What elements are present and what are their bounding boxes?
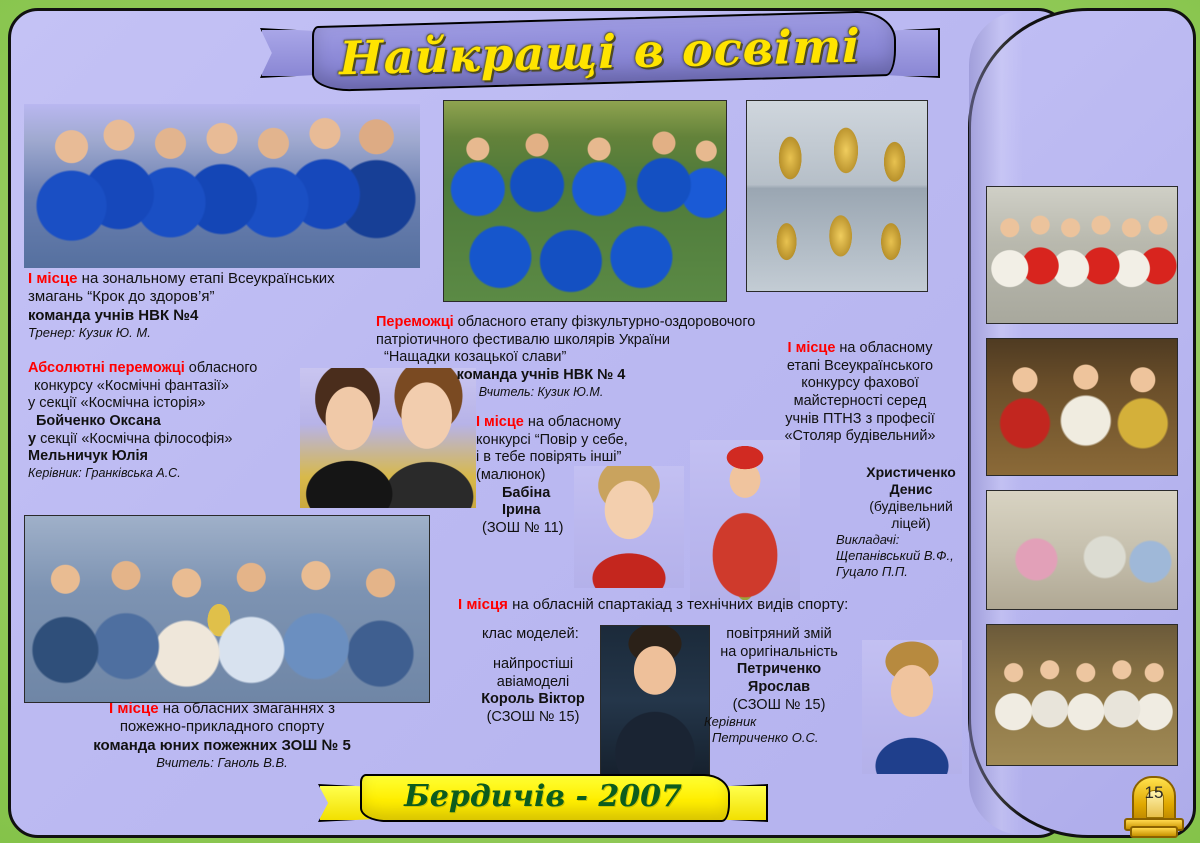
- photo-boy-worker-red-cap: [690, 440, 800, 600]
- text-block-krok-do-zdorovya: I місце на зональному етапі Всеукраїнськ…: [28, 270, 428, 341]
- text-block-petrychenko: повітряний змій на оригінальність Петрич…: [704, 626, 854, 746]
- stolyar-line4: майстерності серед: [756, 393, 964, 411]
- photo-kids-stage: [986, 338, 1178, 476]
- photo-boy-petrychenko: [862, 640, 962, 774]
- nash-teacher: Вчитель: Кузик Ю.М.: [376, 385, 706, 400]
- photo-classroom: [986, 490, 1178, 610]
- kosm-line2: конкурсу «Космічні фантазії»: [28, 378, 328, 396]
- korol-school: (СЗОШ № 15): [458, 709, 608, 727]
- photo-kids-dance: [986, 624, 1178, 766]
- petr-school: (СЗОШ № 15): [704, 697, 854, 715]
- krok-line2: змагань “Крок до здоров’я”: [28, 288, 428, 306]
- photo-team-medals-outdoors: [443, 100, 727, 302]
- povir-line3: і в тебе повірять інші”: [476, 449, 676, 467]
- text-block-korol: найпростіші авіамоделі Король Віктор (СЗ…: [458, 656, 608, 727]
- photo-boys-with-cup: [24, 515, 430, 703]
- korol-line1: найпростіші: [458, 656, 608, 674]
- stolyar-line5: учнів ПТНЗ з професії: [756, 411, 964, 429]
- petr-line2: на оригінальність: [704, 644, 854, 662]
- povir-place: I місце: [476, 414, 524, 430]
- photo-boy-korol: [600, 625, 710, 775]
- khr-teacher1: Щепанівський В.Ф.,: [836, 548, 986, 564]
- petr-line1: повітряний змій: [704, 626, 854, 644]
- nash-line1: Переможці обласного етапу фізкультурно-о…: [376, 314, 846, 332]
- gold-arch-emblem-icon: [1124, 772, 1180, 836]
- krok-team: команда учнів НВК №4: [28, 307, 428, 325]
- petr-name1: Петриченко: [704, 661, 854, 679]
- korol-name: Король Віктор: [458, 691, 608, 709]
- nash-team: команда учнів НВК № 4: [376, 367, 706, 385]
- stolyar-place: I місце: [788, 340, 836, 356]
- footer-banner: Бердичів - 2007: [318, 768, 768, 830]
- title-banner: Найкращі в освіті: [260, 6, 940, 98]
- stolyar-line1: I місце на обласному: [756, 340, 964, 358]
- stolyar-line3: конкурсу фахової: [756, 375, 964, 393]
- text-block-khrystychenko: Христиченко Денис (будівельний ліцей) Ви…: [836, 464, 986, 580]
- spart-place: I місця: [458, 596, 508, 613]
- kosm-line3: у секції «Космічна історія»: [28, 395, 328, 413]
- photo-folk-choir: [986, 186, 1178, 324]
- khr-teacher2: Гуцало П.П.: [836, 564, 986, 580]
- spart-left-category: клас моделей:: [482, 626, 642, 644]
- pozh-line2: пожежно-прикладного спорту: [24, 718, 420, 736]
- text-block-povir-u-sebe: I місце на обласному конкурсі “Повір у с…: [476, 414, 676, 538]
- povir-line2: конкурсі “Повір у себе,: [476, 432, 676, 450]
- povir-name1: Бабіна: [476, 485, 676, 503]
- povir-line4: (малюнок): [476, 467, 676, 485]
- kosm-name1: Бойченко Оксана: [28, 413, 328, 431]
- text-block-stolyar: I місце на обласному етапі Всеукраїнсько…: [756, 340, 964, 446]
- kosm-line1: Абсолютні переможці обласного: [28, 360, 328, 378]
- petr-name2: Ярослав: [704, 679, 854, 697]
- povir-name2: Ірина: [476, 502, 676, 520]
- photo-team-blue-tracksuits: [24, 104, 420, 268]
- kosm-supervisor: Керівник: Гранківська А.С.: [28, 466, 328, 481]
- nash-place: Переможці: [376, 314, 454, 330]
- pozh-place: I місце: [109, 700, 159, 717]
- povir-line1: I місце на обласному: [476, 414, 676, 432]
- kosm-line4: у секції «Космічна філософія»: [28, 431, 328, 449]
- khr-note2: ліцей): [836, 515, 986, 532]
- page-number: 15: [1140, 783, 1168, 803]
- kosm-place: Абсолютні переможці: [28, 360, 185, 376]
- pozh-line1: I місце на обласних змаганнях з: [24, 700, 420, 718]
- petr-supervisor-label: Керівник: [704, 714, 854, 730]
- kosm-name2: Мельничук Юлія: [28, 448, 328, 466]
- krok-place: I місце: [28, 270, 78, 287]
- khr-name1: Христиченко: [836, 464, 986, 481]
- pozh-team: команда юних пожежних ЗОШ № 5: [24, 737, 420, 755]
- khr-teachers-label: Викладачі:: [836, 532, 986, 548]
- stolyar-line2: етапі Всеукраїнського: [756, 358, 964, 376]
- emblem-base-bottom: [1130, 826, 1178, 838]
- page-title: Найкращі в освіті: [260, 0, 940, 114]
- korol-line2: авіамоделі: [458, 674, 608, 692]
- khr-note1: (будівельний: [836, 498, 986, 515]
- text-block-spartakiada-category: клас моделей:: [482, 626, 642, 644]
- khr-name2: Денис: [836, 481, 986, 498]
- stolyar-line6: «Столяр будівельний»: [756, 428, 964, 446]
- text-block-spartakiada-header: I місця на обласній спартакіад з технічн…: [458, 596, 958, 614]
- photo-trophy-cabinet: [746, 100, 928, 292]
- povir-school: (ЗОШ № 11): [476, 520, 676, 538]
- text-block-pozhezhno: I місце на обласних змаганнях з пожежно-…: [24, 700, 420, 771]
- poster-page: Найкращі в освіті: [0, 0, 1200, 843]
- petr-supervisor: Петриченко О.С.: [704, 730, 854, 746]
- text-block-kosmichni-fantazii: Абсолютні переможці обласного конкурсу «…: [28, 360, 328, 481]
- krok-coach: Тренер: Кузик Ю. М.: [28, 325, 428, 341]
- footer-title: Бердичів - 2007: [318, 768, 768, 824]
- krok-line1: I місце на зональному етапі Всеукраїнськ…: [28, 270, 428, 288]
